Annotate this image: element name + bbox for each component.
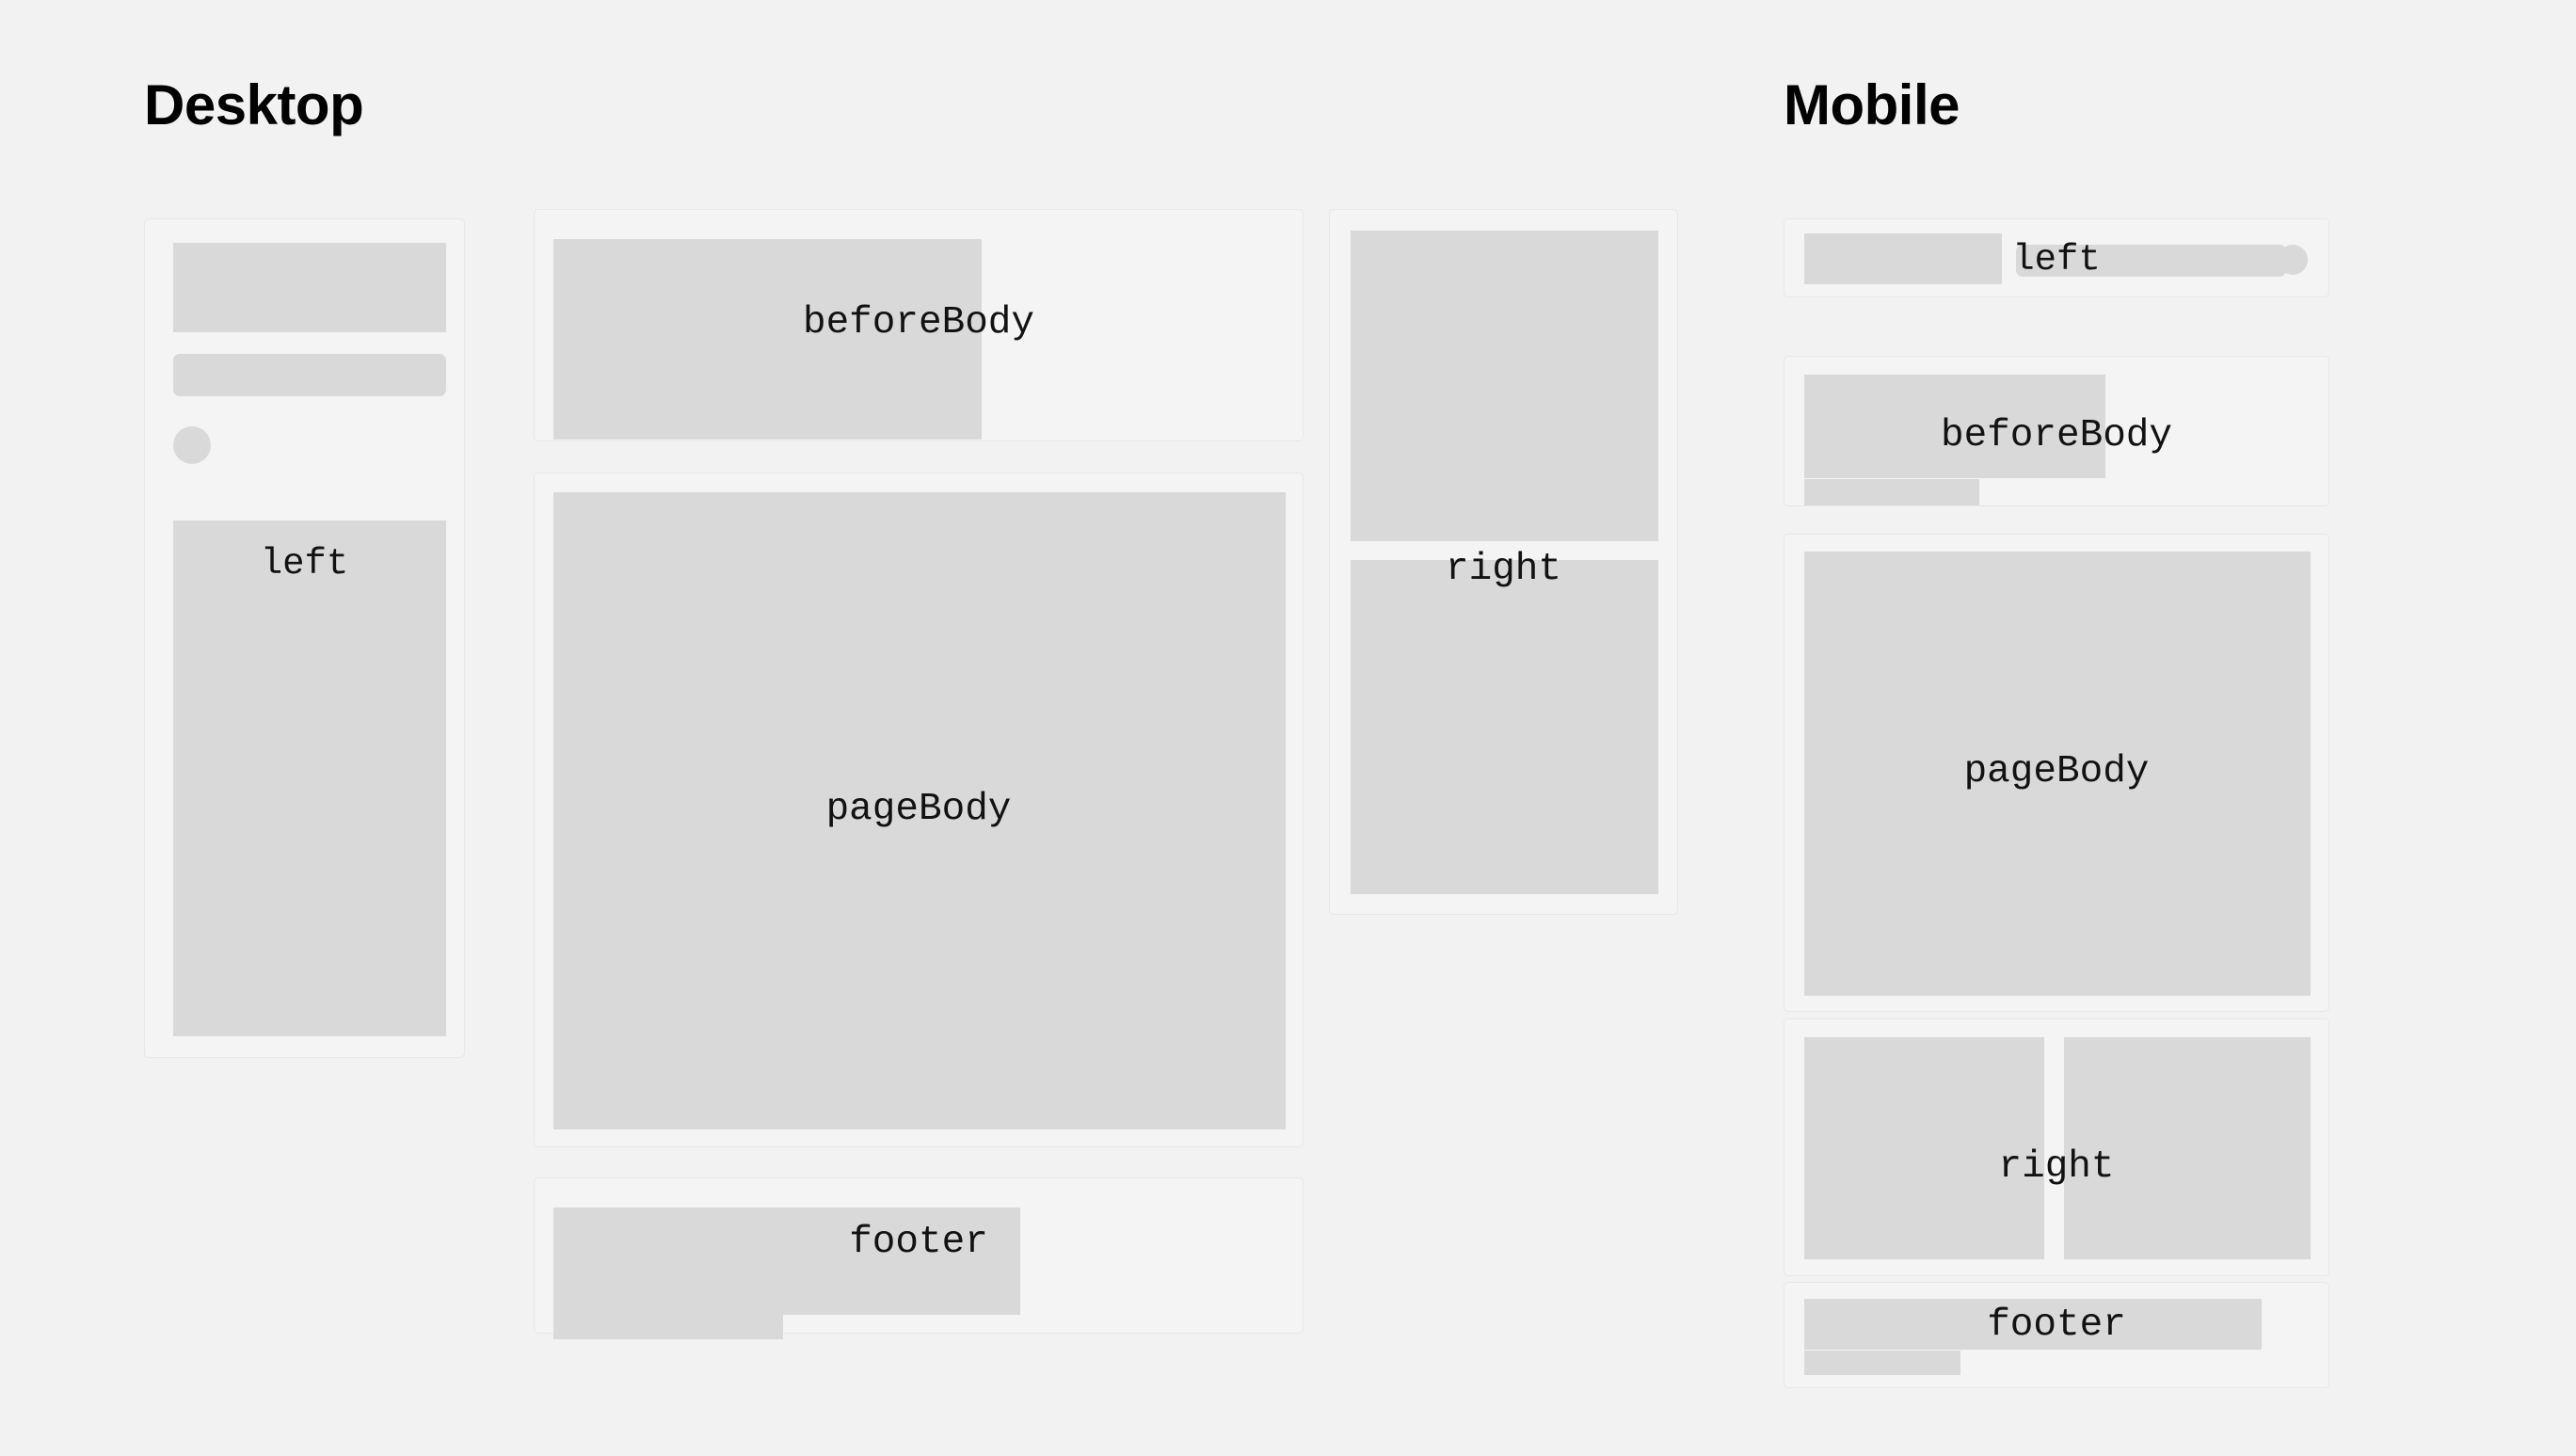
mobile-left-panel[interactable] [1784, 218, 2329, 297]
mobile-beforebody-wide-block [1804, 375, 2105, 478]
desktop-pagebody-panel[interactable] [534, 472, 1304, 1147]
mobile-right-right-block [2064, 1037, 2311, 1259]
mobile-pagebody-panel[interactable] [1784, 534, 2329, 1012]
mobile-pagebody-body-block [1804, 552, 2311, 996]
desktop-footer-panel[interactable] [534, 1177, 1304, 1334]
mobile-right-panel[interactable] [1784, 1018, 2329, 1276]
desktop-left-content-block [173, 520, 446, 1036]
desktop-left-bar-block [173, 354, 446, 396]
desktop-left-panel[interactable] [144, 218, 465, 1058]
desktop-beforebody-small-block [553, 387, 795, 423]
mobile-left-avatar-circle [2278, 245, 2308, 275]
mobile-footer-panel[interactable] [1784, 1282, 2329, 1388]
desktop-footer-wide-block [553, 1208, 1020, 1315]
desktop-left-header-block [173, 243, 446, 332]
mobile-left-header-block [1804, 233, 2002, 284]
desktop-pagebody-body-block [553, 492, 1286, 1129]
desktop-left-avatar-circle [173, 426, 211, 464]
desktop-beforebody-panel[interactable] [534, 209, 1304, 441]
mobile-right-left-block [1804, 1037, 2044, 1259]
desktop-footer-small-block [553, 1304, 783, 1339]
desktop-right-top-block [1351, 231, 1658, 541]
mobile-footer-wide-block [1804, 1299, 2262, 1350]
mobile-beforebody-small-block [1804, 479, 1979, 505]
wireframe-canvas: Desktop left beforeBody pageBody right f… [0, 0, 2576, 1456]
mobile-beforebody-panel[interactable] [1784, 356, 2329, 506]
desktop-section-title: Desktop [144, 77, 363, 134]
desktop-right-bottom-block [1351, 560, 1658, 894]
mobile-section-title: Mobile [1784, 77, 1960, 134]
mobile-left-bar-block [2016, 245, 2286, 277]
mobile-footer-small-block [1804, 1351, 1960, 1375]
desktop-right-panel[interactable] [1329, 209, 1678, 915]
